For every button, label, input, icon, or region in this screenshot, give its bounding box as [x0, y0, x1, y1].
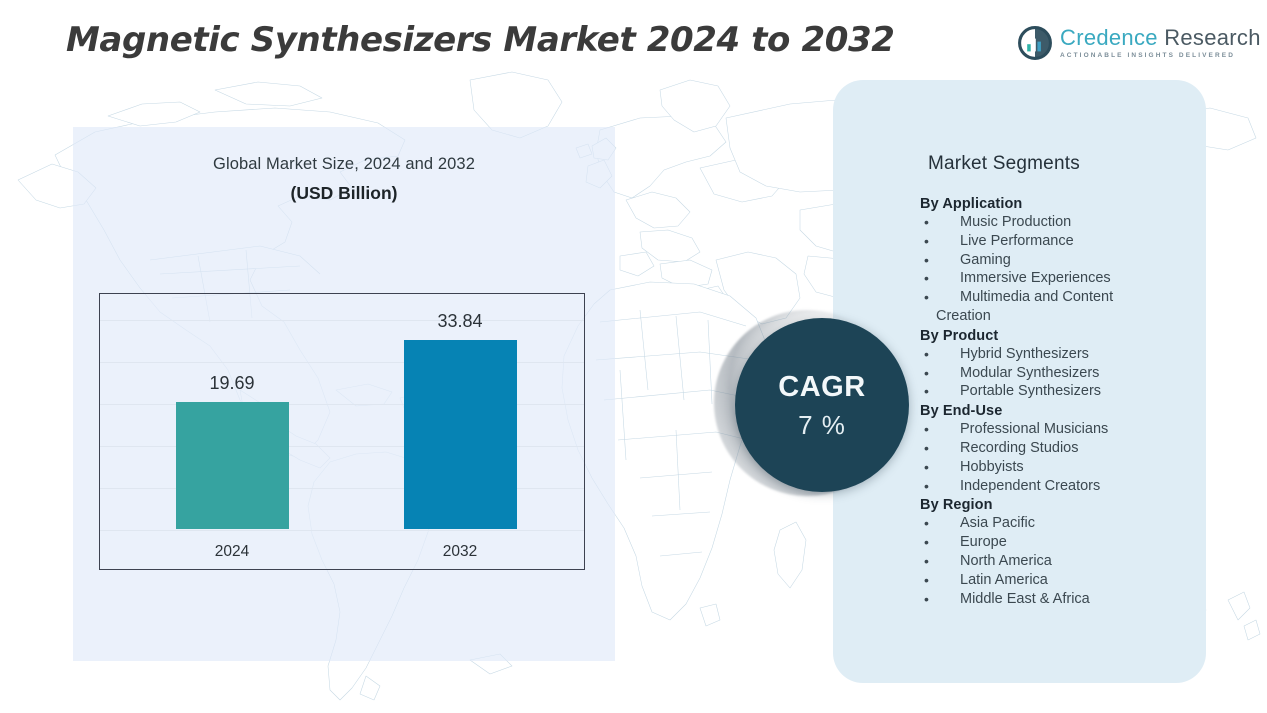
segment-list-item[interactable]: •Recording Studios	[920, 439, 1190, 458]
segment-group-heading: By End-Use	[920, 403, 1190, 419]
chart-bar: 33.842032	[404, 340, 517, 529]
bullet-icon: •	[920, 288, 960, 307]
segment-item-label: Independent Creators	[960, 477, 1190, 496]
infographic-root: Magnetic Synthesizers Market 2024 to 203…	[0, 0, 1267, 713]
segments-list: By Application•Music Production•Live Per…	[920, 196, 1190, 608]
segment-list-item[interactable]: •Live Performance	[920, 232, 1190, 251]
segment-list-item[interactable]: •Modular Synthesizers	[920, 364, 1190, 383]
logo-brand-name-second: Research	[1158, 25, 1261, 50]
header: Magnetic Synthesizers Market 2024 to 203…	[0, 0, 1267, 80]
segment-list-item[interactable]: •Europe	[920, 533, 1190, 552]
segment-group-heading: By Region	[920, 497, 1190, 513]
bullet-icon: •	[920, 477, 960, 496]
logo-brand-name-first: Credence	[1060, 25, 1158, 50]
segment-item-label: Immersive Experiences	[960, 269, 1190, 288]
chart-bar-fill	[176, 402, 289, 529]
bullet-icon: •	[920, 571, 960, 590]
segment-list-item[interactable]: •Asia Pacific	[920, 514, 1190, 533]
bullet-icon: •	[920, 590, 960, 609]
segment-item-label: Music Production	[960, 213, 1190, 232]
cagr-value: 7 %	[798, 412, 846, 438]
chart-bar-fill	[404, 340, 517, 529]
bullet-icon: •	[920, 514, 960, 533]
logo-tagline: Actionable Insights Delivered	[1060, 53, 1261, 60]
bullet-icon: •	[920, 420, 960, 439]
chart-bar-value-label: 33.84	[437, 311, 482, 332]
segment-list-item[interactable]: •Hobbyists	[920, 458, 1190, 477]
bullet-icon: •	[920, 345, 960, 364]
bar-chart-plot-area: 19.69202433.842032	[99, 293, 585, 570]
segment-list-item[interactable]: •Independent Creators	[920, 477, 1190, 496]
segment-item-label: Latin America	[960, 571, 1190, 590]
chart-category-label: 2032	[443, 543, 477, 561]
segment-item-label: Hybrid Synthesizers	[960, 345, 1190, 364]
segment-list-item[interactable]: •Gaming	[920, 251, 1190, 270]
segment-list-item[interactable]: •Multimedia and Content	[920, 288, 1190, 307]
segment-item-label: Europe	[960, 533, 1190, 552]
segment-item-label: Professional Musicians	[960, 420, 1190, 439]
bar-chart-circle-icon	[1018, 26, 1052, 60]
logo-brand-name: Credence Research	[1060, 27, 1261, 49]
chart-heading: Global Market Size, 2024 and 2032 (USD B…	[73, 155, 615, 204]
bullet-icon: •	[920, 251, 960, 270]
segment-item-label: Portable Synthesizers	[960, 382, 1190, 401]
segment-list-item[interactable]: •Latin America	[920, 571, 1190, 590]
bullet-icon: •	[920, 552, 960, 571]
chart-gridline	[100, 320, 584, 321]
cagr-badge: CAGR 7 %	[735, 318, 909, 492]
segment-item-label: Live Performance	[960, 232, 1190, 251]
segment-list-item-wrap: Creation	[920, 307, 1190, 326]
segment-list-item[interactable]: •Portable Synthesizers	[920, 382, 1190, 401]
bullet-icon: •	[920, 232, 960, 251]
chart-gridline	[100, 530, 584, 531]
bullet-icon: •	[920, 269, 960, 288]
segment-group-heading: By Application	[920, 196, 1190, 212]
segment-group-heading: By Product	[920, 328, 1190, 344]
brand-logo: Credence Research Actionable Insights De…	[1018, 26, 1261, 60]
chart-title: Global Market Size, 2024 and 2032	[73, 155, 615, 174]
bullet-icon: •	[920, 458, 960, 477]
segment-item-label: Modular Synthesizers	[960, 364, 1190, 383]
chart-bar: 19.692024	[176, 402, 289, 529]
page-title: Magnetic Synthesizers Market 2024 to 203…	[66, 20, 894, 60]
segment-list-item[interactable]: •Immersive Experiences	[920, 269, 1190, 288]
segment-item-label: Recording Studios	[960, 439, 1190, 458]
segment-item-label: Asia Pacific	[960, 514, 1190, 533]
bullet-icon: •	[920, 382, 960, 401]
bullet-icon: •	[920, 213, 960, 232]
chart-subtitle: (USD Billion)	[73, 183, 615, 204]
cagr-label: CAGR	[778, 373, 865, 402]
segment-item-label: Middle East & Africa	[960, 590, 1190, 609]
segment-item-label: Multimedia and Content	[960, 288, 1190, 307]
segment-list-item[interactable]: •Middle East & Africa	[920, 590, 1190, 609]
segments-title: Market Segments	[928, 153, 1080, 175]
segment-item-label: Gaming	[960, 251, 1190, 270]
segment-list-item[interactable]: •Hybrid Synthesizers	[920, 345, 1190, 364]
bullet-icon: •	[920, 533, 960, 552]
logo-text: Credence Research Actionable Insights De…	[1060, 27, 1261, 60]
segment-list-item[interactable]: •Music Production	[920, 213, 1190, 232]
bullet-icon: •	[920, 364, 960, 383]
segment-item-label: Hobbyists	[960, 458, 1190, 477]
segment-item-label: North America	[960, 552, 1190, 571]
bullet-icon: •	[920, 439, 960, 458]
segment-item-label-continued: Creation	[936, 307, 1190, 326]
segment-list-item[interactable]: •Professional Musicians	[920, 420, 1190, 439]
chart-bar-value-label: 19.69	[209, 373, 254, 394]
segment-list-item[interactable]: •North America	[920, 552, 1190, 571]
chart-category-label: 2024	[215, 543, 249, 561]
